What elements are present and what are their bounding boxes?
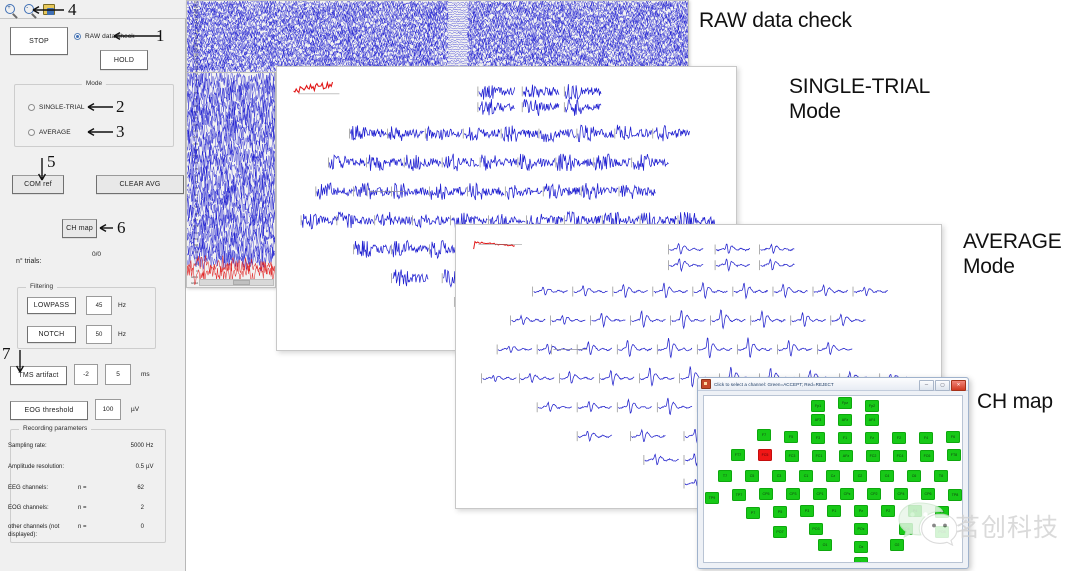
ch-map-electrode[interactable]: Cz [826,470,840,482]
eog-unit-label: µV [131,406,139,413]
recording-parameters-title: Recording parameters [19,425,91,432]
annotation-2: 2 [116,97,125,117]
recording-row-name: Sampling rate: [8,443,82,451]
label-raw-data-check: RAW data check [699,8,852,33]
ch-map-electrode[interactable]: Oz [854,541,868,553]
radio-indicator-average [28,129,35,136]
ch-map-electrode[interactable]: C6 [907,470,921,482]
ch-map-electrode[interactable]: C4 [880,470,894,482]
raw-data-window-lower[interactable]: C4C6T8TP9TP7CP5CP3CP1CPzCP2CP4CP6TP8TP10… [186,73,276,288]
ch-map-canvas[interactable]: Fp1FpzFp2AF3AFzAF4F7F5F3F1FzF2F4F6F8FT7F… [703,395,963,563]
ch-map-electrode[interactable]: T8 [934,470,948,482]
recording-row-name: other channels (not displayed): [8,524,82,539]
ch-map-electrode[interactable]: O2 [890,539,904,551]
mode-group: Mode [14,84,174,147]
notch-input[interactable]: 50 [86,325,112,344]
ch-map-electrode[interactable]: T7 [718,470,732,482]
ch-map-electrode[interactable]: Fp2 [865,400,879,412]
ch-map-electrode[interactable]: FT8 [947,449,961,461]
minimize-icon[interactable]: ─ [919,380,934,391]
ch-map-electrode[interactable]: O1 [818,539,832,551]
notch-button[interactable]: NOTCH [27,326,76,343]
recording-row-unit: Hz [146,443,153,449]
ch-map-window[interactable]: Click to select a channel: Green=ACCEPT;… [697,377,969,569]
ch-map-electrode[interactable]: Fp1 [811,400,825,412]
ch-map-electrode[interactable]: CP4 [894,488,908,500]
hold-button[interactable]: HOLD [100,50,148,70]
ch-map-electrode[interactable]: CP1 [813,488,827,500]
trials-count: 0/0 [92,251,101,258]
radio-indicator-single [28,104,35,111]
recording-row-name: Amplitude resolution: [8,464,82,472]
annotation-5: 5 [47,152,56,172]
ch-map-electrode[interactable]: F2 [892,432,906,444]
single-trial-label: SINGLE-TRIAL [39,104,85,111]
ch-map-electrode[interactable]: Fz [865,432,879,444]
recording-row-value: 2 [116,505,144,511]
eog-threshold-button[interactable]: EOG threshold [10,401,88,420]
recording-row-value: 62 [116,485,144,491]
ch-map-electrode[interactable]: PO3 [809,523,823,535]
average-radio[interactable]: AVERAGE [28,129,71,136]
com-ref-button[interactable]: COM ref [12,175,64,194]
lowpass-unit-label: Hz [118,302,126,309]
ch-map-electrode[interactable]: P1 [827,505,841,517]
ch-map-electrode[interactable]: AF3 [811,414,825,426]
lowpass-input[interactable]: 45 [86,296,112,315]
label-average-mode: AVERAGE Mode [963,229,1062,279]
annotation-3: 3 [116,122,125,142]
ch-map-electrode[interactable]: POz [854,523,868,535]
ch-map-electrode[interactable]: CP5 [759,488,773,500]
ch-map-electrode[interactable]: PO7 [773,526,787,538]
ch-map-electrode[interactable]: TP8 [948,489,962,501]
ch-map-electrode[interactable]: AFz [838,414,852,426]
lowpass-button[interactable]: LOWPASS [27,297,76,314]
raw-data-check-label: RAW data check [85,33,135,40]
ch-map-electrode[interactable]: F3 [811,432,825,444]
app-root: + - STOP HOLD RAW data check Mode SINGLE… [0,0,1080,571]
ch-map-electrode[interactable]: Pz [854,505,868,517]
ch-map-electrode[interactable]: PO4 [899,523,913,535]
ch-map-electrode[interactable]: PO8 [935,526,949,538]
mode-group-title: Mode [82,80,106,87]
recording-row-unit: µV [146,464,153,470]
toolbar: + - [0,0,186,19]
ch-map-electrode[interactable]: F4 [919,432,933,444]
trials-label: n° trials: [16,258,41,265]
matlab-app-icon [701,379,711,389]
ch-map-electrode[interactable]: AF4 [865,414,879,426]
label-ch-map: CH map [977,389,1053,414]
raw-data-window[interactable]: Fp1FpzFp2AF3AFzAF4F7F5F3F1FzF2F4F6F8FT7F… [186,0,689,73]
ch-map-electrode[interactable]: CP3 [786,488,800,500]
label-single-trial-mode: SINGLE-TRIAL Mode [789,74,930,124]
tms-end-input[interactable]: 5 [105,364,131,385]
recording-row-value: 0.5 [116,464,144,470]
tms-unit-label: ms [141,371,150,378]
raw-data-plot[interactable]: Fp1FpzFp2AF3AFzAF4F7F5F3F1FzF2F4F6F8FT7F… [187,1,688,72]
clear-avg-button[interactable]: CLEAR AVG [96,175,184,194]
notch-unit-label: Hz [118,331,126,338]
ch-map-electrode[interactable]: FC5 [758,449,772,461]
ch-map-electrode[interactable]: C2 [853,470,867,482]
ch-map-electrode[interactable]: FC2 [866,450,880,462]
ch-map-electrode[interactable]: P2 [881,505,895,517]
ch-map-button[interactable]: CH map [62,219,97,238]
maximize-icon[interactable]: ▢ [935,380,950,391]
recording-row-value: 0 [116,524,144,530]
ch-map-electrode[interactable]: F1 [838,432,852,444]
raw-scrollbar-thumb[interactable] [233,280,251,285]
ch-map-electrode[interactable]: P4 [908,505,922,517]
ch-map-electrode[interactable]: CP2 [867,488,881,500]
raw-traces-top [187,1,688,72]
recording-row-neq: n = [78,524,87,530]
radio-indicator-raw [74,33,81,40]
ch-map-electrode[interactable]: F5 [784,431,798,443]
ch-map-electrode[interactable]: C3 [772,470,786,482]
ch-map-electrode[interactable]: C1 [799,470,813,482]
ch-map-electrode[interactable]: P6 [935,506,949,518]
recording-row-neq: n = [78,505,87,511]
pan-icon[interactable] [41,2,57,17]
ch-map-electrode[interactable]: P7 [746,507,760,519]
ch-map-electrode[interactable]: F6 [946,431,960,443]
recording-row-neq: n = [78,485,87,491]
ch-map-electrode[interactable]: P3 [800,505,814,517]
ch-map-titlebar[interactable]: Click to select a channel: Green=ACCEPT;… [698,378,968,391]
ch-map-electrode[interactable]: FT7 [731,449,745,461]
raw-horizontal-scrollbar[interactable] [199,279,274,286]
filtering-group-title: Filtering [26,283,57,290]
annotation-7: 7 [2,344,11,364]
raw-traces-lower [187,73,275,287]
ch-map-electrode[interactable]: C5 [745,470,759,482]
close-icon[interactable]: ✕ [951,380,966,391]
ch-map-electrode[interactable]: CP6 [921,488,935,500]
tms-start-input[interactable]: -2 [74,364,98,385]
ch-map-electrode[interactable]: F7 [757,429,771,441]
ch-map-electrode[interactable]: AFz [839,450,853,462]
zoom-in-icon[interactable]: + [3,2,19,17]
annotation-6: 6 [117,218,126,238]
raw-data-check-radio[interactable]: RAW data check [74,33,135,40]
ch-map-electrode[interactable]: Iz [854,557,868,563]
average-label: AVERAGE [39,129,71,136]
raw-data-plot-lower[interactable]: C4C6T8TP9TP7CP5CP3CP1CPzCP2CP4CP6TP8TP10… [187,73,275,287]
ch-map-electrode[interactable]: FC3 [785,450,799,462]
annotation-4: 4 [68,0,77,20]
recording-row-name: EEG channels: [8,485,82,493]
single-trial-radio[interactable]: SINGLE-TRIAL [28,104,85,111]
control-panel: + - STOP HOLD RAW data check Mode SINGLE… [0,0,186,571]
ch-map-electrode[interactable]: FC4 [893,450,907,462]
recording-row-value: 5000 [116,443,144,449]
stop-button[interactable]: STOP [10,27,68,55]
ch-map-electrode[interactable]: Fpz [838,397,852,409]
watermark-text: 茗创科技 [955,508,1059,544]
ch-map-electrode[interactable]: TP9 [705,492,719,504]
ch-map-electrode[interactable]: TP7 [732,489,746,501]
ch-map-electrode[interactable]: FC1 [812,450,826,462]
window-buttons: ─ ▢ ✕ [919,380,966,391]
ch-map-electrode[interactable]: CPz [840,488,854,500]
annotation-1: 1 [156,26,165,46]
eog-threshold-input[interactable]: 100 [95,399,121,420]
ch-map-electrode[interactable]: P8 [962,507,963,519]
tms-artifact-button[interactable]: TMS artifact [10,366,67,385]
recording-row-name: EOG channels: [8,505,82,513]
ch-map-window-title: Click to select a channel: Green=ACCEPT;… [714,382,834,387]
ch-map-electrode[interactable]: FC6 [920,450,934,462]
ch-map-electrode[interactable]: P5 [773,506,787,518]
zoom-out-icon[interactable]: - [22,2,38,17]
